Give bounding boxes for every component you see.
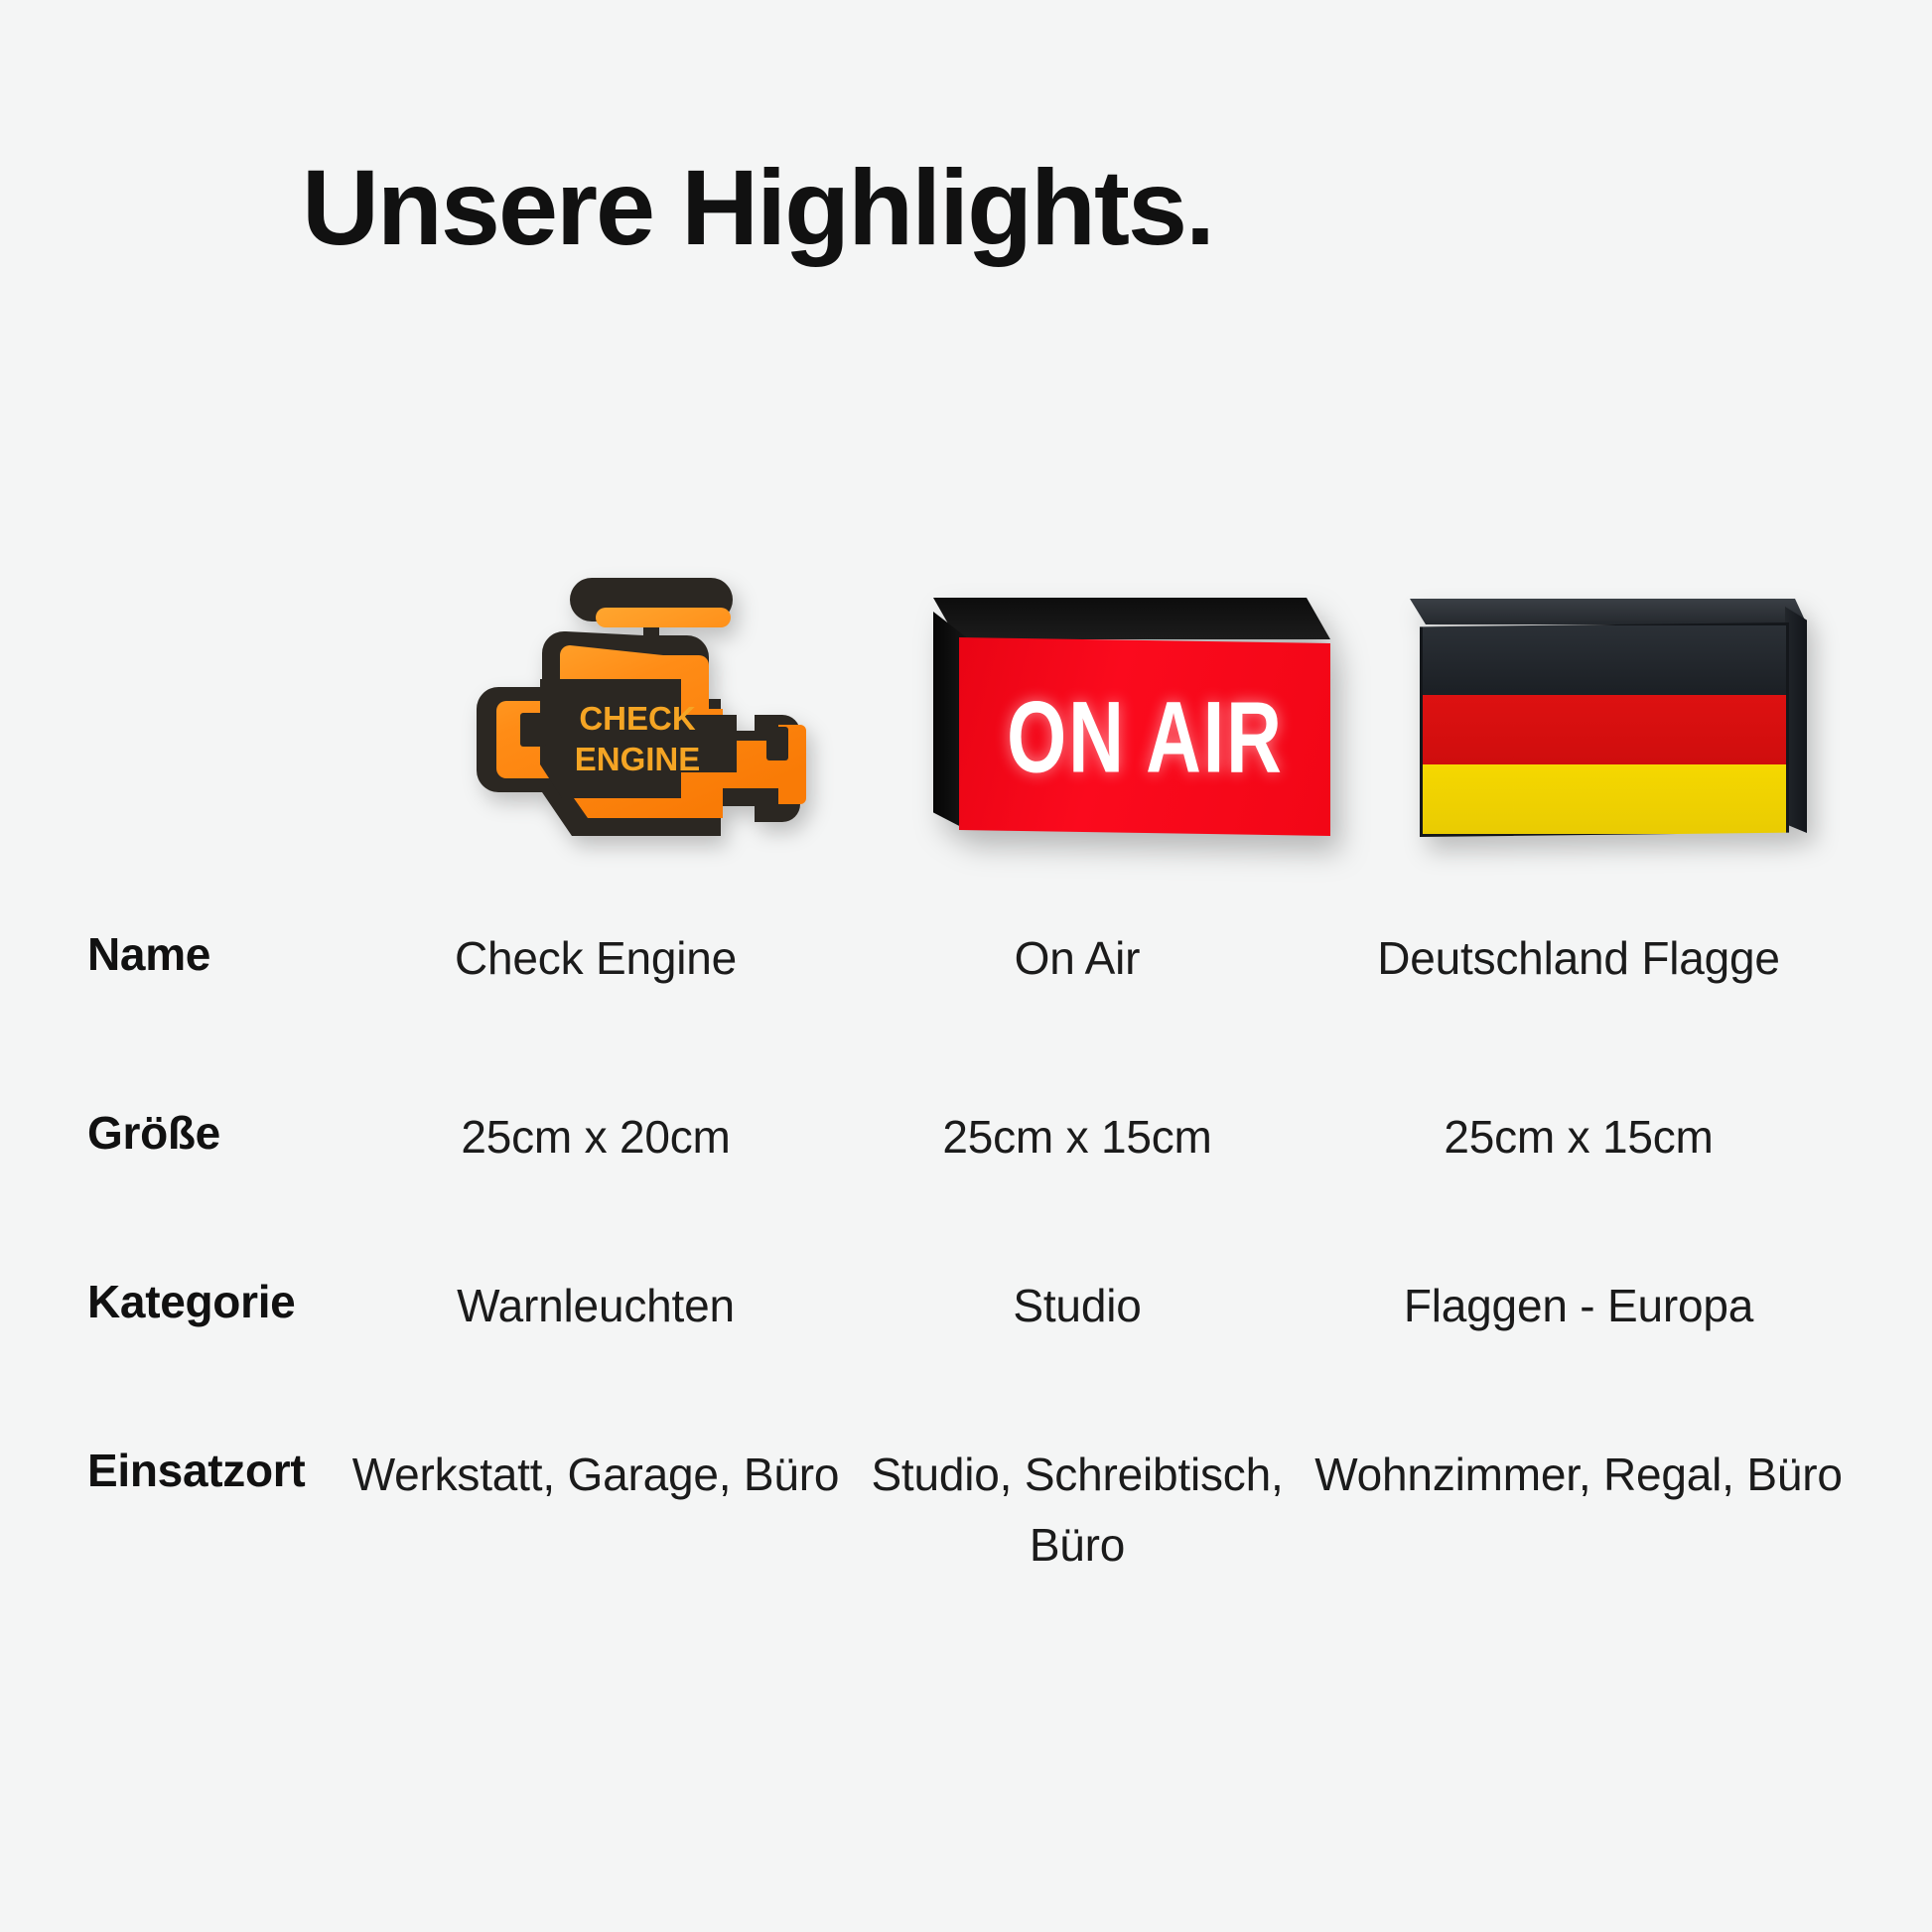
spec-comparison-table: Name Check Engine On Air Deutschland Fla… xyxy=(0,923,1932,1658)
page-title: Unsere Highlights. xyxy=(0,149,1932,267)
row-label-kategorie: Kategorie xyxy=(0,1271,338,1332)
cell-name-deutschland-flagge: Deutschland Flagge xyxy=(1301,923,1857,994)
flag-band-gold xyxy=(1423,764,1786,834)
check-engine-lamp-icon: CHECK ENGINE xyxy=(447,554,864,852)
flag-box-front-face xyxy=(1420,622,1789,837)
cell-kategorie-on-air: Studio xyxy=(854,1271,1301,1341)
table-row-groesse: Größe 25cm x 20cm 25cm x 15cm 25cm x 15c… xyxy=(0,1102,1932,1271)
check-engine-text-line-2: ENGINE xyxy=(575,741,701,777)
check-engine-text-line-1: CHECK xyxy=(579,700,696,737)
product-image-check-engine: CHECK ENGINE xyxy=(412,536,898,864)
table-row-kategorie: Kategorie Warnleuchten Studio Flaggen - … xyxy=(0,1271,1932,1440)
on-air-text: ON AIR xyxy=(1007,678,1284,795)
cell-groesse-on-air: 25cm x 15cm xyxy=(854,1102,1301,1173)
cell-kategorie-check-engine: Warnleuchten xyxy=(338,1271,854,1341)
on-air-lightbox-icon: ON AIR xyxy=(933,598,1330,836)
germany-flag-lightbox-icon xyxy=(1410,599,1807,842)
table-row-einsatzort: Einsatzort Werkstatt, Garage, Büro Studi… xyxy=(0,1440,1932,1658)
on-air-box-front-face: ON AIR xyxy=(959,637,1330,836)
cell-name-on-air: On Air xyxy=(854,923,1301,994)
cell-name-check-engine: Check Engine xyxy=(338,923,854,994)
cell-kategorie-deutschland-flagge: Flaggen - Europa xyxy=(1301,1271,1857,1341)
cell-groesse-deutschland-flagge: 25cm x 15cm xyxy=(1301,1102,1857,1173)
product-image-on-air: ON AIR xyxy=(898,536,1365,864)
table-row-name: Name Check Engine On Air Deutschland Fla… xyxy=(0,923,1932,1102)
product-image-row: CHECK ENGINE ON AIR xyxy=(0,536,1932,864)
row-label-einsatzort: Einsatzort xyxy=(0,1440,338,1501)
cell-einsatzort-check-engine: Werkstatt, Garage, Büro xyxy=(338,1440,854,1510)
flag-box-top-face xyxy=(1410,599,1807,624)
product-image-deutschland-flagge xyxy=(1365,536,1852,864)
cell-einsatzort-on-air: Studio, Schreibtisch, Büro xyxy=(854,1440,1301,1582)
flag-band-red xyxy=(1423,695,1786,764)
row-label-name: Name xyxy=(0,923,338,985)
cell-groesse-check-engine: 25cm x 20cm xyxy=(338,1102,854,1173)
row-label-groesse: Größe xyxy=(0,1102,338,1164)
flag-band-black xyxy=(1423,625,1786,695)
cell-einsatzort-deutschland-flagge: Wohnzimmer, Regal, Büro xyxy=(1301,1440,1857,1510)
on-air-box-top-face xyxy=(933,598,1330,639)
